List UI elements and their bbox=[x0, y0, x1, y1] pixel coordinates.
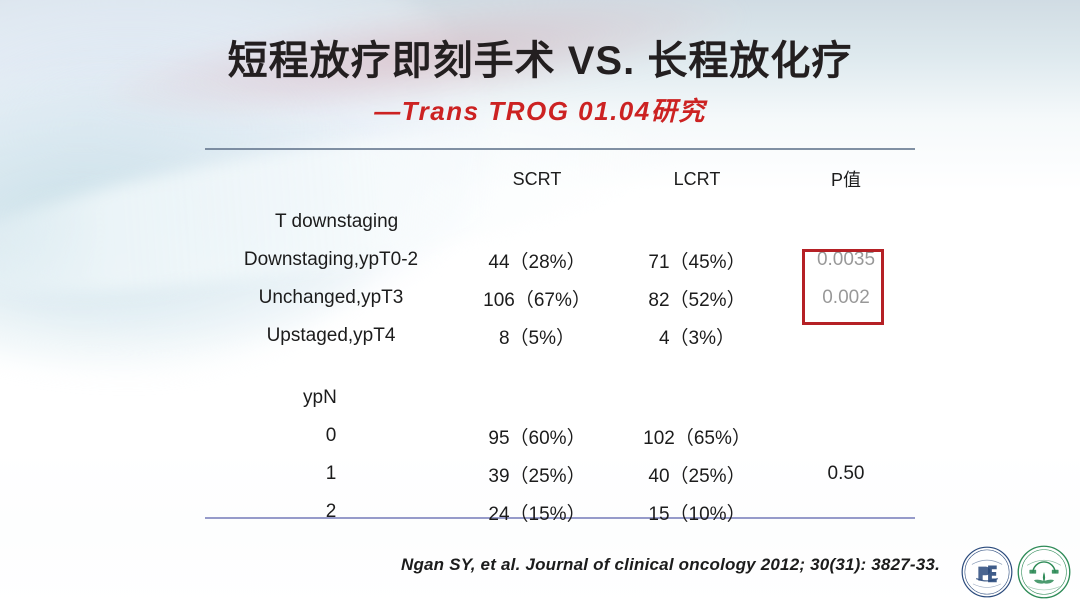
cell-scrt-upstaged: 8（5%） bbox=[457, 317, 617, 355]
institution-seal-green-icon bbox=[1016, 544, 1072, 600]
group-heading-spacer-lcrt bbox=[617, 203, 777, 241]
group-heading-ypn: ypN bbox=[205, 379, 457, 417]
table-header-row: SCRT LCRT P值 bbox=[205, 155, 915, 203]
group-heading-row: ypN bbox=[205, 379, 915, 417]
pvalue-highlight-box bbox=[802, 249, 884, 325]
spacer-cell bbox=[205, 355, 457, 379]
presentation-slide: 短程放疗即刻手术 VS. 长程放化疗 —Trans TROG 01.04研究 S… bbox=[0, 0, 1080, 608]
citation-text: Ngan SY, et al. Journal of clinical onco… bbox=[0, 555, 1080, 575]
cell-lcrt-upstaged: 4（3%） bbox=[617, 317, 777, 355]
group-heading-spacer-scrt-ypn bbox=[457, 379, 617, 417]
row-label-ypn-0: 0 bbox=[205, 417, 457, 455]
spacer-cell bbox=[457, 355, 617, 379]
cell-lcrt-downstaging: 71（45%） bbox=[617, 241, 777, 279]
column-header-label bbox=[205, 155, 457, 203]
table-top-rule bbox=[205, 148, 915, 150]
table-row: 0 95（60%） 102（65%） 0.50 bbox=[205, 417, 915, 455]
group-heading-spacer-p bbox=[777, 203, 915, 241]
group-heading-spacer-scrt bbox=[457, 203, 617, 241]
cell-lcrt-unchanged: 82（52%） bbox=[617, 279, 777, 317]
group-heading-t-downstaging: T downstaging bbox=[205, 203, 457, 241]
row-label-ypn-1: 1 bbox=[205, 455, 457, 493]
group-spacer-row bbox=[205, 355, 915, 379]
cell-lcrt-ypn-0: 102（65%） bbox=[617, 417, 777, 455]
group-heading-row: T downstaging bbox=[205, 203, 915, 241]
cell-scrt-downstaging: 44（28%） bbox=[457, 241, 617, 279]
spacer-cell bbox=[617, 355, 777, 379]
cell-lcrt-ypn-2: 15（10%） bbox=[617, 493, 777, 531]
results-table: SCRT LCRT P值 T downstaging Downstaging,y… bbox=[205, 155, 915, 531]
group-heading-spacer-lcrt-ypn bbox=[617, 379, 777, 417]
group-heading-spacer-p-ypn bbox=[777, 379, 915, 417]
row-label-unchanged: Unchanged,ypT3 bbox=[205, 279, 457, 317]
cell-pvalue-ypn-group: 0.50 bbox=[777, 417, 915, 531]
cell-scrt-ypn-1: 39（25%） bbox=[457, 455, 617, 493]
logo-group bbox=[960, 544, 1072, 600]
row-label-ypn-2: 2 bbox=[205, 493, 457, 531]
institution-seal-blue-icon bbox=[960, 545, 1014, 599]
column-header-scrt: SCRT bbox=[457, 155, 617, 203]
slide-subtitle: —Trans TROG 01.04研究 bbox=[0, 91, 1080, 128]
row-label-downstaging: Downstaging,ypT0-2 bbox=[205, 241, 457, 279]
cell-lcrt-ypn-1: 40（25%） bbox=[617, 455, 777, 493]
row-label-upstaged: Upstaged,ypT4 bbox=[205, 317, 457, 355]
column-header-lcrt: LCRT bbox=[617, 155, 777, 203]
slide-title: 短程放疗即刻手术 VS. 长程放化疗 bbox=[0, 38, 1080, 85]
cell-scrt-ypn-2: 24（15%） bbox=[457, 493, 617, 531]
cell-scrt-ypn-0: 95（60%） bbox=[457, 417, 617, 455]
spacer-cell bbox=[777, 355, 915, 379]
column-header-pvalue: P值 bbox=[777, 155, 915, 203]
title-block: 短程放疗即刻手术 VS. 长程放化疗 —Trans TROG 01.04研究 bbox=[0, 38, 1080, 128]
table-header: SCRT LCRT P值 bbox=[205, 155, 915, 203]
cell-scrt-unchanged: 106（67%） bbox=[457, 279, 617, 317]
